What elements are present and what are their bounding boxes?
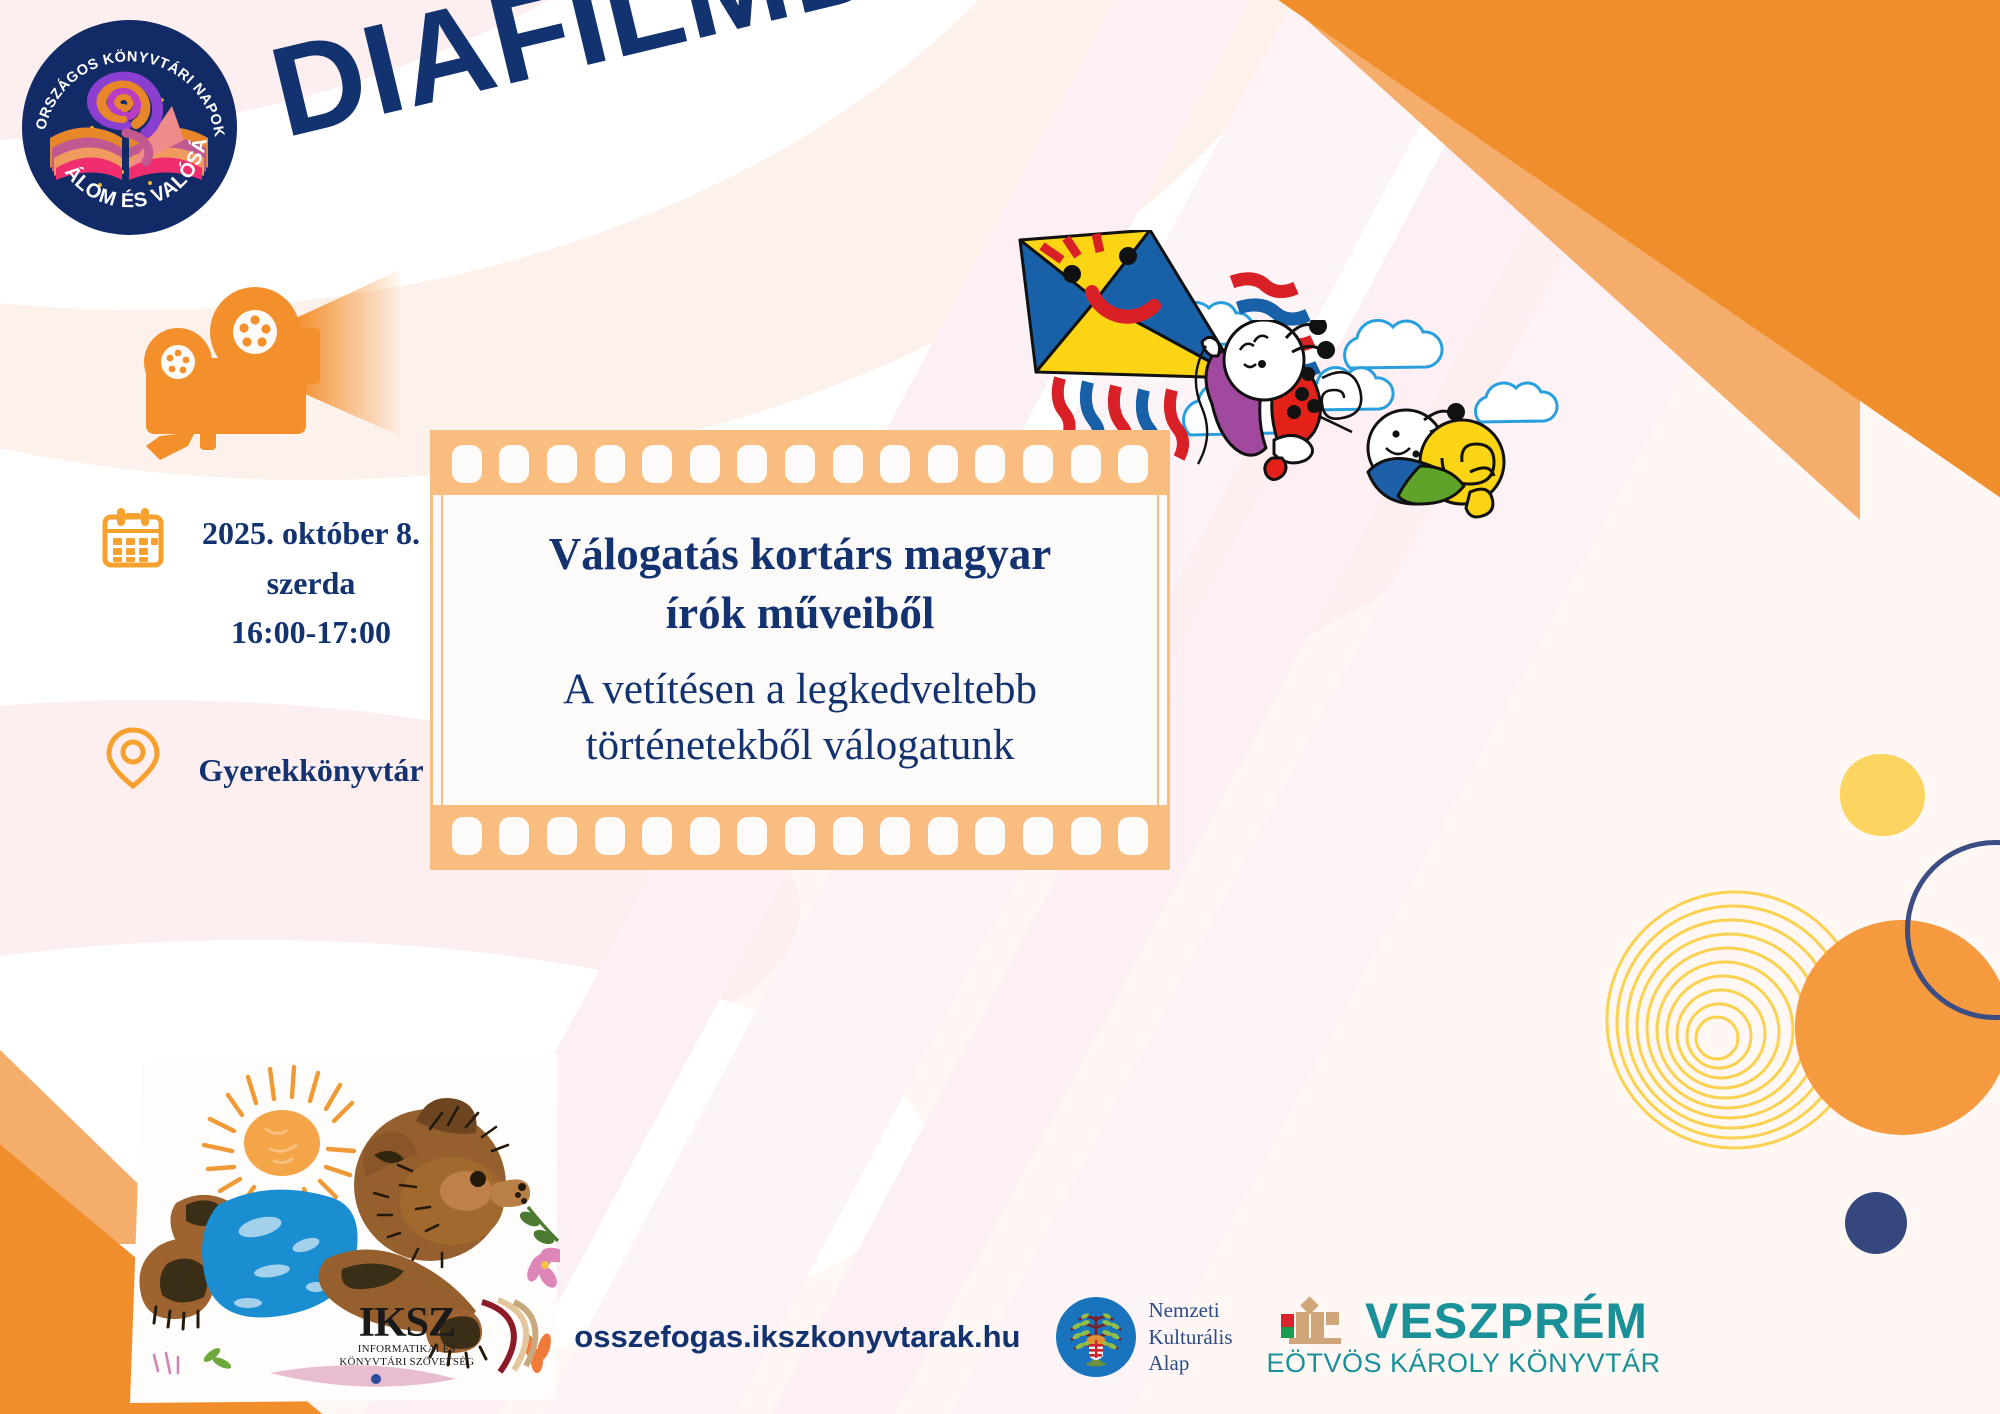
perforation (975, 817, 1005, 855)
perforation (880, 445, 910, 483)
poster-canvas: ORSZÁGOS KÖNYVTÁRI NAPOK • 2025. OKTÓBER… (0, 0, 2000, 1414)
nka-tree-emblem-icon (1055, 1296, 1137, 1378)
program-filmstrip: Válogatás kortárs magyar írók műveiből A… (430, 430, 1170, 870)
film-projector-icon (100, 250, 410, 470)
perforation (642, 817, 672, 855)
nka-line-3: Alap (1149, 1350, 1233, 1377)
perforation (499, 445, 529, 483)
veszprem-crown-icon (1279, 1296, 1355, 1346)
program-line-3: A vetítésen a legkedveltebb (563, 662, 1037, 719)
campaign-url[interactable]: osszefogas.ikszkonyvtarak.hu (574, 1319, 1020, 1355)
perforation (928, 817, 958, 855)
event-location-row: Gyerekkönyvtár (100, 724, 440, 796)
navy-dot-decoration (1845, 1192, 1907, 1254)
event-date: 2025. október 8. (182, 509, 440, 559)
program-text-block: Válogatás kortárs magyar írók műveiből A… (441, 495, 1159, 805)
perforation (1023, 445, 1053, 483)
ladybug-and-snail-characters-icon (1170, 320, 1510, 550)
perforation (737, 817, 767, 855)
yellow-blob-decoration (1840, 754, 1925, 836)
perforation (452, 445, 482, 483)
nka-line-1: Nemzeti (1149, 1297, 1233, 1324)
perforation (880, 817, 910, 855)
map-pin-icon (100, 724, 166, 790)
program-line-2: írók műveiből (666, 584, 935, 643)
perforation (975, 445, 1005, 483)
open-book-spiral-icon: ORSZÁGOS KÖNYVTÁRI NAPOK • 2025. OKTÓBER… (22, 20, 237, 235)
ikz-logo-text: IKSZ INFORMATIKAI ÉS KÖNYVTÁRI SZÖVETSÉG (339, 1305, 474, 1368)
event-info-block: 2025. október 8. szerda 16:00-17:00 Gyer… (100, 505, 440, 795)
ikz-swoosh-icon (476, 1294, 540, 1380)
perforation (1118, 817, 1148, 855)
event-time: 16:00-17:00 (182, 608, 440, 658)
perforation (1023, 817, 1053, 855)
veszprem-library-logo: VESZPRÉM EÖTVÖS KÁROLY KÖNYVTÁR (1267, 1296, 1661, 1379)
filmstrip-perforations-top (433, 433, 1167, 495)
program-line-1: Válogatás kortárs magyar (549, 525, 1051, 584)
ikz-logo: IKSZ INFORMATIKAI ÉS KÖNYVTÁRI SZÖVETSÉG (339, 1294, 540, 1380)
footer-logos: IKSZ INFORMATIKAI ÉS KÖNYVTÁRI SZÖVETSÉG… (0, 1282, 2000, 1392)
filmstrip-perforations-bottom (433, 805, 1167, 867)
perforation (547, 817, 577, 855)
ikz-subtitle-line-2: KÖNYVTÁRI SZÖVETSÉG (339, 1356, 474, 1369)
program-line-4: történetekből válogatunk (586, 718, 1015, 775)
veszprem-wordmark: VESZPRÉM (1365, 1298, 1648, 1346)
library-days-badge: ORSZÁGOS KÖNYVTÁRI NAPOK • 2025. OKTÓBER… (22, 20, 237, 235)
event-date-row: 2025. október 8. szerda 16:00-17:00 (100, 505, 440, 658)
perforation (928, 445, 958, 483)
veszprem-logo-top: VESZPRÉM (1279, 1296, 1648, 1346)
event-location: Gyerekkönyvtár (182, 724, 440, 796)
perforation (452, 817, 482, 855)
perforation (595, 817, 625, 855)
ikz-wordmark: IKSZ (359, 1305, 455, 1343)
perforation (642, 445, 672, 483)
perforation (690, 445, 720, 483)
perforation (785, 817, 815, 855)
perforation (1118, 445, 1148, 483)
perforation (595, 445, 625, 483)
perforation (833, 445, 863, 483)
nka-logo: Nemzeti Kulturális Alap (1055, 1296, 1233, 1378)
perforation (499, 817, 529, 855)
perforation (547, 445, 577, 483)
perforation (833, 817, 863, 855)
perforation (1071, 817, 1101, 855)
ikz-subtitle-line-1: INFORMATIKAI ÉS (358, 1343, 456, 1356)
calendar-icon (100, 505, 166, 571)
perforation (690, 817, 720, 855)
nka-line-2: Kulturális (1149, 1324, 1233, 1351)
event-datetime-text: 2025. október 8. szerda 16:00-17:00 (182, 505, 440, 658)
perforation (737, 445, 767, 483)
perforation (785, 445, 815, 483)
nka-logo-text: Nemzeti Kulturális Alap (1149, 1297, 1233, 1378)
veszprem-library-subtitle: EÖTVÖS KÁROLY KÖNYVTÁR (1267, 1348, 1661, 1379)
event-weekday: szerda (182, 559, 440, 609)
perforation (1071, 445, 1101, 483)
